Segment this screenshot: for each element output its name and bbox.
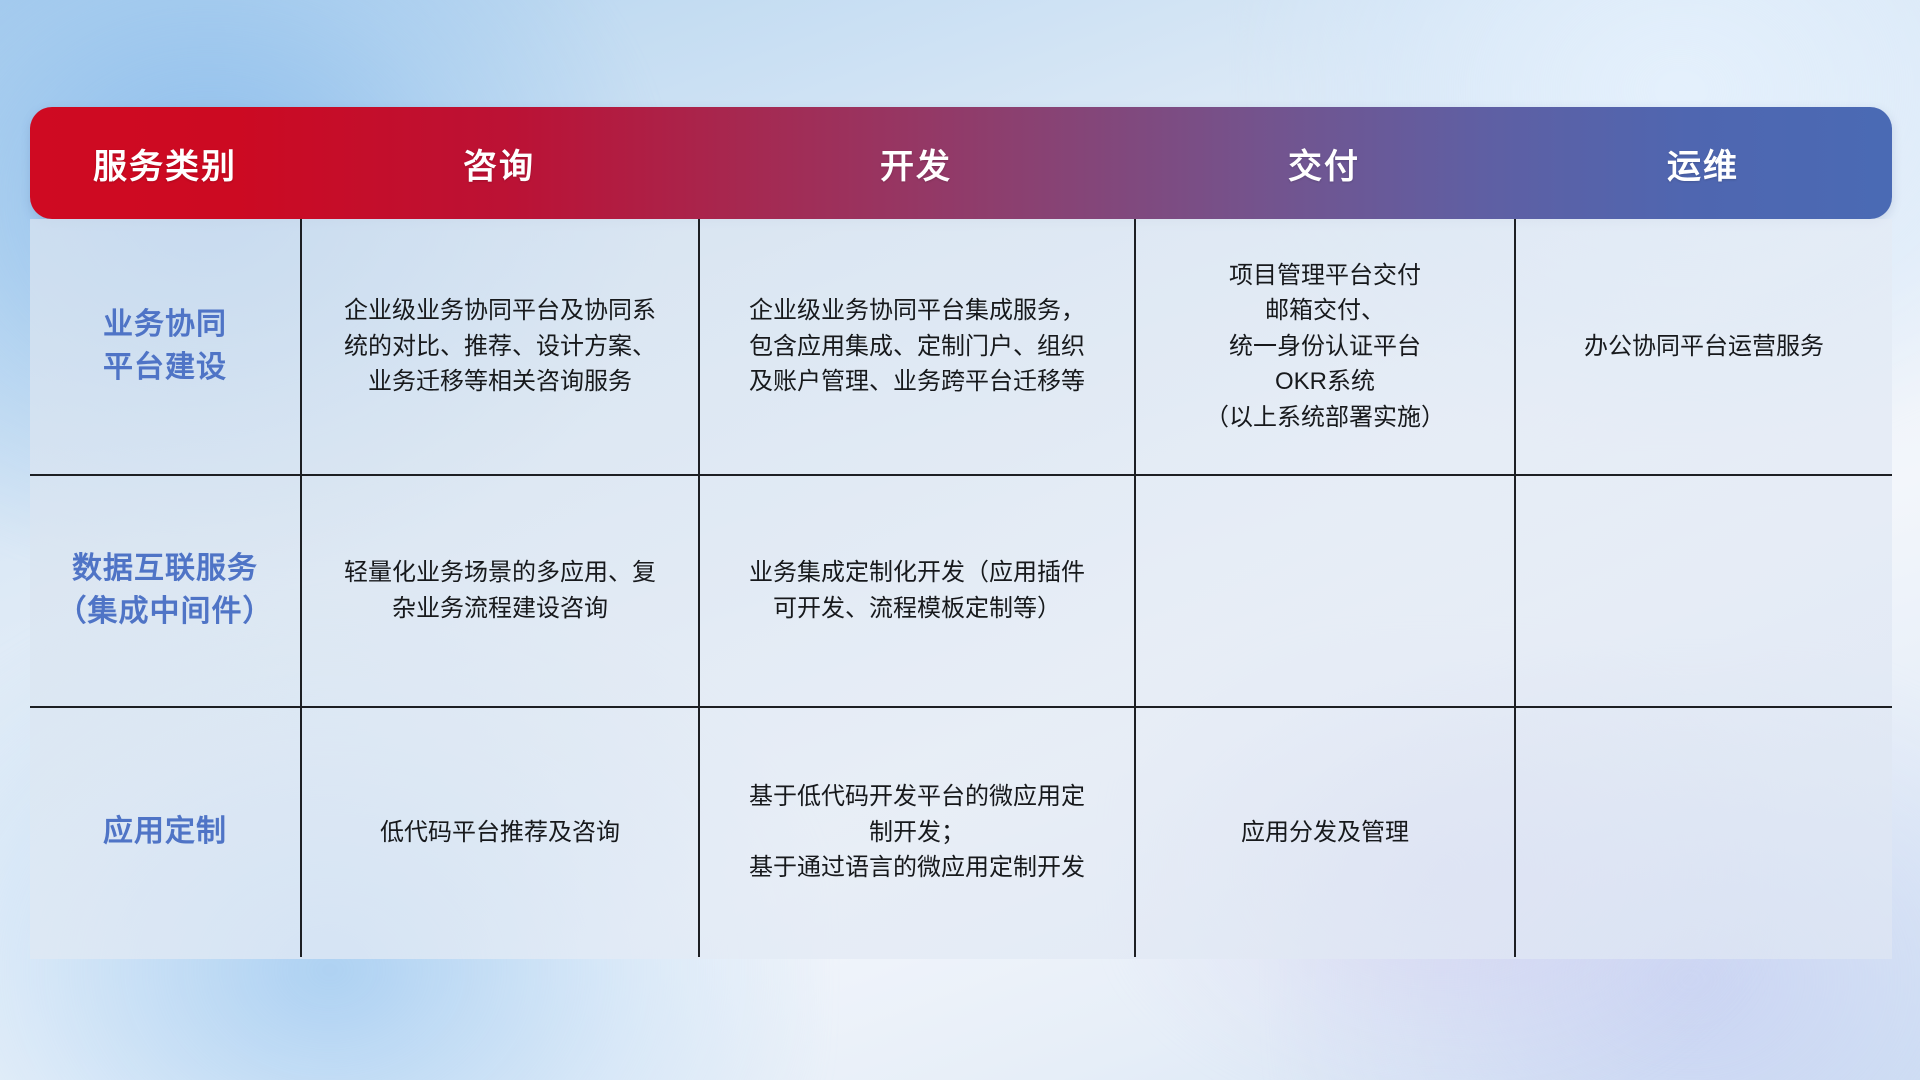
cell-development: 企业级业务协同平台集成服务， 包含应用集成、定制门户、组织 及账户管理、业务跨平… — [698, 219, 1134, 474]
cell-operations — [1514, 708, 1892, 957]
row-category-label: 业务协同 平台建设 — [30, 219, 300, 474]
column-header-category: 服务类别 — [30, 139, 300, 188]
cell-delivery — [1134, 476, 1514, 706]
table-row: 数据互联服务 （集成中间件） 轻量化业务场景的多应用、复 杂业务流程建设咨询 业… — [30, 474, 1892, 706]
column-header-delivery: 交付 — [1134, 139, 1514, 188]
cell-delivery: 项目管理平台交付 邮箱交付、 统一身份认证平台 OKR系统 （以上系统部署实施） — [1134, 219, 1514, 474]
column-header-development: 开发 — [698, 139, 1134, 188]
table-row: 应用定制 低代码平台推荐及咨询 基于低代码开发平台的微应用定 制开发； 基于通过… — [30, 706, 1892, 957]
service-matrix-table: 服务类别 咨询 开发 交付 运维 业务协同 平台建设 企业级业务协同平台及协同系… — [30, 107, 1892, 957]
table-body: 业务协同 平台建设 企业级业务协同平台及协同系 统的对比、推荐、设计方案、 业务… — [30, 219, 1892, 959]
cell-development: 业务集成定制化开发（应用插件 可开发、流程模板定制等） — [698, 476, 1134, 706]
cell-development: 基于低代码开发平台的微应用定 制开发； 基于通过语言的微应用定制开发 — [698, 708, 1134, 957]
table-header-row: 服务类别 咨询 开发 交付 运维 — [30, 107, 1892, 219]
cell-consulting: 轻量化业务场景的多应用、复 杂业务流程建设咨询 — [300, 476, 698, 706]
cell-consulting: 低代码平台推荐及咨询 — [300, 708, 698, 957]
column-header-operations: 运维 — [1514, 139, 1892, 188]
cell-operations: 办公协同平台运营服务 — [1514, 219, 1892, 474]
cell-consulting: 企业级业务协同平台及协同系 统的对比、推荐、设计方案、 业务迁移等相关咨询服务 — [300, 219, 698, 474]
cell-delivery: 应用分发及管理 — [1134, 708, 1514, 957]
cell-operations — [1514, 476, 1892, 706]
row-category-label: 应用定制 — [30, 708, 300, 957]
row-category-label: 数据互联服务 （集成中间件） — [30, 476, 300, 706]
table-row: 业务协同 平台建设 企业级业务协同平台及协同系 统的对比、推荐、设计方案、 业务… — [30, 219, 1892, 474]
column-header-consulting: 咨询 — [300, 139, 698, 188]
